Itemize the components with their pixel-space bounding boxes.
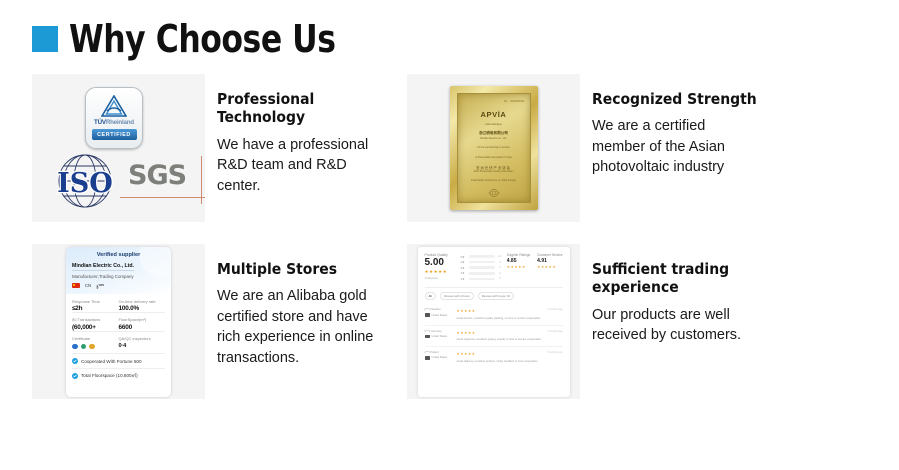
verified-supplier-card: Verified supplier Mindian Electric Co., … — [66, 247, 171, 397]
rating-bar-key: 2★ — [461, 271, 467, 275]
tuv-triangle-icon — [101, 95, 127, 117]
star-icon: ★ — [429, 270, 433, 274]
review-date: 3 months ago — [547, 330, 562, 333]
star-icon: ★ — [434, 270, 438, 274]
supplier-highlight: Cooperated With Fortune 500 — [72, 353, 165, 364]
reviewer-country: United States — [432, 314, 448, 317]
star-icon: ★ — [468, 310, 471, 314]
rating-bar-count: 0 — [497, 266, 501, 269]
feature-body: We are an Alibaba gold certified store a… — [217, 286, 387, 368]
metric-value: 100.0% — [119, 305, 166, 312]
star-icon: ★ — [438, 270, 442, 274]
supplier-origin-row: CN 3YRS — [72, 283, 165, 289]
tuv-brand-main: TÜV — [94, 119, 106, 126]
plaque-subtitle: Acknowledges — [485, 123, 502, 126]
rating-bar-row: 1★ 0 — [461, 277, 501, 281]
star-icon: ★ — [472, 332, 475, 336]
rating-bar-count: 0 — [497, 277, 501, 280]
supplier-ratings-stars: ★ ★ ★ ★ ★ — [507, 266, 530, 270]
rating-bar-key: 1★ — [461, 277, 467, 281]
plaque-number: No. : 2018040002 — [504, 100, 525, 103]
certificate-icon-3 — [89, 344, 95, 350]
tab-review-with-photos[interactable]: Review with photos — [440, 292, 474, 300]
supplier-highlight: Total Floorspace (10,600㎡) — [72, 368, 165, 379]
svg-text:ISO: ISO — [57, 168, 113, 199]
supplier-ratings-block: Supplier Ratings 4.85 ★ ★ ★ ★ ★ — [507, 253, 563, 283]
metric-cell: Response Time ≤2h — [72, 299, 119, 313]
supplier-ratings-score: 4.85 — [507, 258, 530, 264]
metric-value: (60,000+ — [72, 324, 119, 331]
metric-cell: On-time delivery rate 100.0% — [119, 299, 166, 313]
rating-bar-row: 2★ 0 — [461, 271, 501, 275]
tuv-brand-label: TÜVRheinland — [94, 119, 134, 126]
certificate-icon-2 — [81, 344, 87, 350]
rating-bar-key: 4★ — [461, 260, 467, 264]
reviewer-name: k***n Germany — [425, 330, 452, 333]
star-icon: ★ — [468, 332, 471, 336]
tuv-certified-chip: CERTIFIED — [92, 129, 137, 140]
customer-service-stars: ★ ★ ★ ★ ★ — [537, 266, 562, 270]
star-icon: ★ — [460, 332, 463, 336]
sgs-logo: SGS — [128, 162, 204, 202]
metric-cell: 50 Transactions (60,000+ — [72, 317, 119, 331]
plaque-footer: Asia Pacific Conference on Solar Energy — [471, 179, 516, 182]
tuv-rheinland-certified-badge: TÜVRheinland CERTIFIED — [85, 87, 143, 149]
rating-distribution-chart: 5★ 13 4★ 0 3★ — [461, 253, 501, 283]
supplier-highlight-label: Total Floorspace (10,600㎡) — [81, 373, 138, 379]
check-icon — [72, 373, 78, 379]
plaque-company-cn: 浙江明电有限公司 — [479, 131, 508, 136]
section-header: Why Choose Us — [32, 20, 359, 58]
review-date: 5 months ago — [547, 351, 562, 354]
feature-body: We have a professional R&D team and R&D … — [217, 135, 387, 197]
feature-grid: TÜVRheinland CERTIFIED — [0, 74, 899, 399]
metric-label: 50 Transactions — [72, 317, 119, 323]
reviewer-country: United States — [432, 335, 448, 338]
supplier-metrics: Response Time ≤2h On-time delivery rate … — [66, 294, 171, 397]
supplier-header: Verified supplier Mindian Electric Co., … — [66, 247, 171, 294]
certification-logos-media: TÜVRheinland CERTIFIED — [32, 74, 205, 222]
product-quality-score: 5.00 — [425, 258, 455, 268]
supplier-years-unit: YRS — [98, 283, 104, 287]
rating-bar-track — [469, 266, 495, 269]
feature-body: Our products are well received by custom… — [592, 305, 762, 346]
feature-card-multiple-stores: Verified supplier Mindian Electric Co., … — [32, 244, 407, 399]
plaque-title: APVİA — [481, 110, 507, 119]
supplier-ratings-label: Supplier Ratings — [507, 253, 530, 257]
accent-square-icon — [32, 26, 58, 52]
review-body: ★ ★ ★ ★ ★ Great service, excellent quali… — [457, 308, 543, 320]
star-icon: ★ — [472, 310, 475, 314]
feature-copy: Recognized Strength We are a certified m… — [580, 74, 762, 178]
star-icon: ★ — [464, 353, 467, 357]
tab-all[interactable]: All — [425, 292, 436, 300]
metric-row: Certificate QA/QC inspectors 0·4 — [72, 331, 165, 349]
review-filter-tabs: All Review with photos Review with buyer… — [425, 287, 563, 300]
metric-value: ≤2h — [72, 305, 119, 312]
plaque-line-1: For its membership in service — [477, 146, 510, 150]
supplier-name: Mindian Electric Co., Ltd. — [72, 263, 134, 271]
star-icon: ★ — [552, 266, 555, 270]
rating-bar-count: 0 — [497, 272, 501, 275]
metric-row: Response Time ≤2h On-time delivery rate … — [72, 299, 165, 313]
supplier-ratings: Supplier Ratings 4.85 ★ ★ ★ ★ ★ — [507, 253, 530, 283]
product-quality-label: Product Quality — [425, 253, 455, 257]
supplier-type: Manufacturer,Trading Company — [72, 274, 165, 279]
star-icon: ★ — [443, 270, 447, 274]
ratings-summary: Product Quality 5.00 ★ ★ ★ ★ ★ 14 Review… — [425, 253, 563, 283]
star-icon: ★ — [545, 266, 548, 270]
review-count-note: 14 Reviews — [425, 277, 455, 280]
rating-bar-track — [469, 261, 495, 264]
reviewer-country-row: United States — [425, 356, 452, 359]
reviewer: g***a Sweden United States — [425, 308, 452, 320]
review-text: Good response, excellent paying, exactly… — [457, 338, 543, 342]
certificate-icons — [72, 344, 119, 350]
star-icon: ★ — [511, 266, 514, 270]
feature-card-professional-technology: TÜVRheinland CERTIFIED — [32, 74, 407, 222]
star-icon: ★ — [460, 353, 463, 357]
review-body: ★ ★ ★ ★ ★ Great delivery, excellent prod… — [457, 351, 543, 363]
review-stars: ★ ★ ★ ★ ★ — [457, 310, 543, 314]
verified-supplier-media: Verified supplier Mindian Electric Co., … — [32, 244, 205, 399]
product-quality-stars: ★ ★ ★ ★ ★ — [425, 270, 455, 274]
reviewer-country: United States — [432, 356, 448, 359]
reviewer: k***n Germany United States — [425, 330, 452, 342]
supplier-country-code: CN — [85, 283, 91, 288]
feature-copy: Multiple Stores We are an Alibaba gold c… — [205, 244, 387, 369]
metric-label: On-time delivery rate — [119, 299, 166, 305]
review-list: g***a Sweden United States ★ ★ — [425, 304, 563, 390]
review-stars: ★ ★ ★ ★ ★ — [457, 353, 543, 357]
star-icon: ★ — [457, 353, 460, 357]
feature-title: Professional Technology — [217, 90, 392, 127]
star-icon: ★ — [464, 310, 467, 314]
customer-service-ratings: Customer Service 4.91 ★ ★ ★ ★ ★ — [537, 253, 562, 283]
star-icon: ★ — [514, 266, 517, 270]
review-item: k***n Germany United States ★ ★ — [425, 325, 563, 346]
metric-label: Response Time — [72, 299, 119, 305]
plaque-seal-icon — [487, 185, 501, 195]
review-item: c***r Poland United States ★ ★ — [425, 346, 563, 367]
review-stars: ★ ★ ★ ★ ★ — [457, 332, 543, 336]
rating-bar-track — [469, 272, 495, 275]
supplier-years: 3YRS — [96, 283, 104, 289]
flag-icon — [425, 313, 430, 316]
feature-row-1: TÜVRheinland CERTIFIED — [0, 74, 899, 222]
check-icon — [72, 358, 78, 364]
product-quality-score-block: Product Quality 5.00 ★ ★ ★ ★ ★ 14 Review… — [425, 253, 455, 283]
rating-bar-track — [469, 278, 495, 281]
review-text: Great delivery, excellent product, nicel… — [457, 360, 543, 364]
tuv-brand-rest: Rheinland — [106, 119, 134, 126]
plaque-council-cn: 亚洲光伏产业协会 — [476, 165, 511, 170]
metric-value: 6600 — [119, 324, 166, 331]
rating-bar-row: 4★ 0 — [461, 260, 501, 264]
rating-bar-track — [469, 255, 495, 258]
star-icon: ★ — [541, 266, 544, 270]
plaque-company-en: Mindian Electric Co., Ltd. — [480, 137, 507, 140]
supplier-highlight-label: Cooperated With Fortune 500 — [81, 359, 142, 364]
star-icon: ★ — [464, 332, 467, 336]
page-title: Why Choose Us — [69, 20, 336, 58]
review-item: g***a Sweden United States ★ ★ — [425, 304, 563, 324]
review-body: ★ ★ ★ ★ ★ Good response, excellent payin… — [457, 330, 543, 342]
china-flag-icon — [72, 283, 80, 289]
verified-supplier-badge: Verified supplier — [72, 252, 165, 258]
feature-body: We are a certified member of the Asian p… — [592, 116, 762, 178]
feature-card-trading-experience: Product Quality 5.00 ★ ★ ★ ★ ★ 14 Review… — [407, 244, 782, 399]
rating-bar-count: 13 — [497, 255, 501, 258]
feature-card-recognized-strength: No. : 2018040002 APVİA Acknowledges 浙江明电… — [407, 74, 782, 222]
review-text: Great service, excellent quality packing… — [457, 317, 543, 321]
star-icon: ★ — [468, 353, 471, 357]
star-icon: ★ — [457, 332, 460, 336]
rating-bar-row: 5★ 13 — [461, 255, 501, 259]
star-icon: ★ — [472, 353, 475, 357]
star-icon: ★ — [460, 310, 463, 314]
gold-plaque-face: No. : 2018040002 APVİA Acknowledges 浙江明电… — [457, 93, 531, 203]
metric-value: 0·4 — [119, 343, 166, 349]
flag-icon — [425, 335, 430, 338]
flag-icon — [425, 356, 430, 359]
rating-bar-key: 5★ — [461, 255, 467, 259]
metric-cell: FloorSpace(m²) 6600 — [119, 317, 166, 331]
certificate-icon-1 — [72, 344, 78, 350]
metric-cell: QA/QC inspectors 0·4 — [119, 336, 166, 349]
customer-reviews-media: Product Quality 5.00 ★ ★ ★ ★ ★ 14 Review… — [407, 244, 580, 399]
star-icon: ★ — [507, 266, 510, 270]
feature-row-2: Verified supplier Mindian Electric Co., … — [0, 244, 899, 399]
gold-plaque-frame: No. : 2018040002 APVİA Acknowledges 浙江明电… — [450, 86, 538, 210]
reviewer-country-row: United States — [425, 313, 452, 316]
rating-bar-row: 3★ 0 — [461, 266, 501, 270]
feature-title: Sufficient trading experience — [592, 260, 767, 297]
rating-bar-count: 0 — [497, 261, 501, 264]
iso-globe-logo: ISO — [46, 152, 124, 210]
sgs-logo-text: SGS — [128, 162, 204, 189]
reviewer-country-row: United States — [425, 335, 452, 338]
metric-label: QA/QC inspectors — [119, 336, 166, 342]
feature-copy: Sufficient trading experience Our produc… — [580, 244, 767, 346]
sgs-rule-horizontal — [120, 197, 205, 198]
reviewer-name: g***a Sweden — [425, 308, 452, 311]
star-icon: ★ — [457, 310, 460, 314]
reviewer-name: c***r Poland — [425, 351, 452, 354]
rating-bar-key: 3★ — [461, 266, 467, 270]
star-icon: ★ — [537, 266, 540, 270]
plaque-line-2: of Renewable Generation in Asia — [475, 156, 511, 160]
reviewer: c***r Poland United States — [425, 351, 452, 363]
tab-review-with-buyer-id[interactable]: Review with buyer ID — [478, 292, 514, 300]
feature-copy: Professional Technology We have a profes… — [205, 74, 392, 196]
star-icon: ★ — [522, 266, 525, 270]
apvia-award-plaque-media: No. : 2018040002 APVİA Acknowledges 浙江明电… — [407, 74, 580, 222]
customer-service-label: Customer Service — [537, 253, 562, 257]
metric-label: Certificate — [72, 336, 119, 342]
metric-row: 50 Transactions (60,000+ FloorSpace(m²) … — [72, 312, 165, 331]
feature-title: Multiple Stores — [217, 260, 387, 278]
customer-reviews-panel: Product Quality 5.00 ★ ★ ★ ★ ★ 14 Review… — [418, 247, 570, 397]
metric-cell: Certificate — [72, 336, 119, 349]
plaque-council-en: Asian Photovoltaic Industry Association — [474, 171, 514, 173]
star-icon: ★ — [549, 266, 552, 270]
review-date: 2 months ago — [547, 308, 562, 311]
metric-label: FloorSpace(m²) — [119, 317, 166, 323]
feature-title: Recognized Strength — [592, 90, 762, 108]
customer-service-score: 4.91 — [537, 258, 562, 264]
star-icon: ★ — [425, 270, 429, 274]
star-icon: ★ — [518, 266, 521, 270]
